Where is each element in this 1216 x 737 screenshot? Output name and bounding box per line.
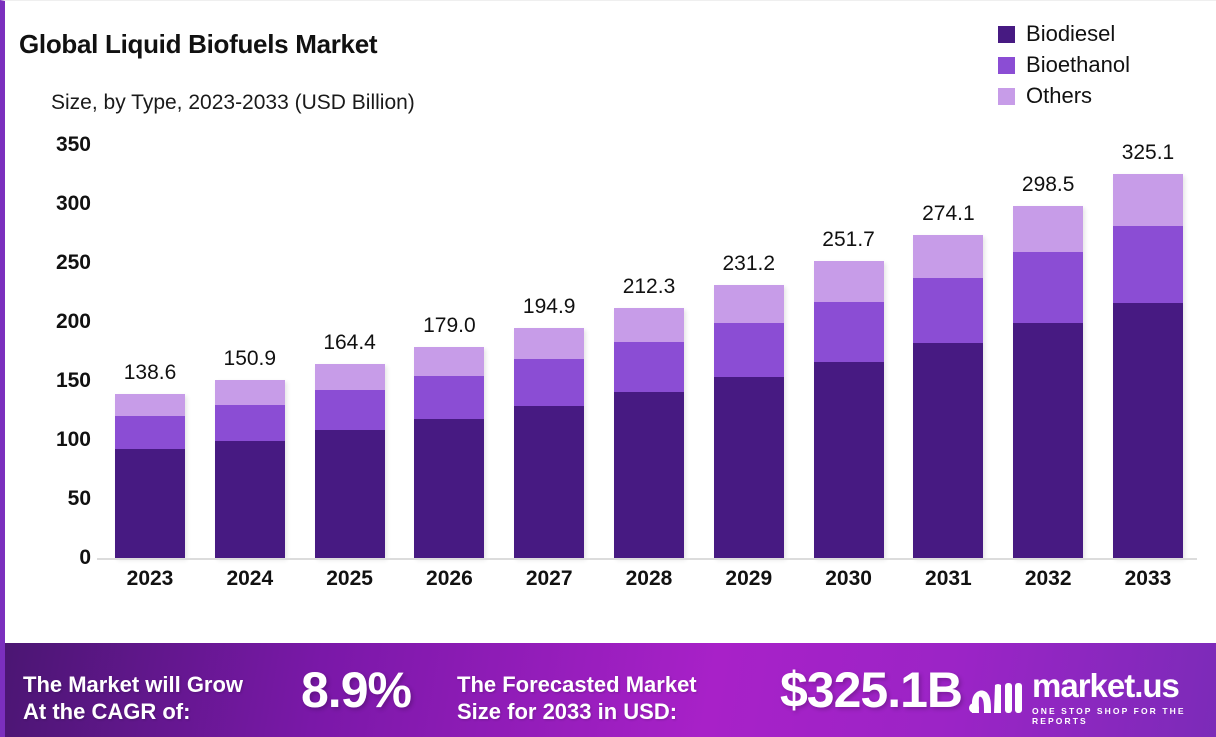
bar-column-2023[interactable]: 138.6: [101, 145, 199, 558]
bar-stack-2028: [614, 308, 684, 559]
y-axis-tick-50: 50: [31, 487, 91, 511]
bar-segment-biodiesel-2024: [215, 441, 285, 558]
x-axis-label-2032: 2032: [999, 567, 1097, 607]
bar-segment-bioethanol-2033: [1113, 226, 1183, 303]
market-us-logo[interactable]: market.us ONE STOP SHOP FOR THE REPORTS: [967, 669, 1216, 726]
bar-segment-bioethanol-2030: [814, 302, 884, 362]
bar-value-label-2026: 179.0: [423, 314, 476, 338]
bar-segment-others-2024: [215, 380, 285, 405]
cagr-value: 8.9%: [301, 665, 411, 715]
bar-segment-biodiesel-2031: [913, 343, 983, 558]
logo-wordmark: market.us: [1032, 669, 1216, 702]
bar-segment-bioethanol-2025: [315, 390, 385, 430]
forecast-caption: The Forecasted Market Size for 2033 in U…: [457, 672, 697, 726]
bar-stack-2023: [115, 394, 185, 558]
bar-segment-biodiesel-2030: [814, 362, 884, 558]
legend-label-bioethanol: Bioethanol: [1026, 54, 1130, 76]
legend-label-others: Others: [1026, 85, 1092, 107]
legend-item-bioethanol[interactable]: Bioethanol: [998, 54, 1130, 76]
market-us-logo-icon: [967, 681, 1023, 715]
bar-value-label-2025: 164.4: [323, 331, 376, 355]
x-axis-label-2028: 2028: [600, 567, 698, 607]
bar-segment-bioethanol-2028: [614, 342, 684, 392]
bar-column-2032[interactable]: 298.5: [999, 145, 1097, 558]
bar-stack-2033: [1113, 174, 1183, 558]
bar-value-label-2031: 274.1: [922, 202, 975, 226]
y-axis-tick-150: 150: [31, 369, 91, 393]
bar-value-label-2027: 194.9: [523, 295, 576, 319]
y-axis-tick-250: 250: [31, 251, 91, 275]
bar-segment-biodiesel-2023: [115, 449, 185, 558]
x-axis-labels: 2023202420252026202720282029203020312032…: [101, 567, 1197, 607]
bar-segment-biodiesel-2029: [714, 377, 784, 558]
market-us-logo-textblock: market.us ONE STOP SHOP FOR THE REPORTS: [1032, 669, 1216, 726]
page-subtitle: Size, by Type, 2023-2033 (USD Billion): [51, 91, 415, 115]
bar-stack-2025: [315, 364, 385, 558]
legend-label-biodiesel: Biodiesel: [1026, 23, 1115, 45]
cagr-caption: The Market will Grow At the CAGR of:: [23, 672, 243, 726]
bar-segment-others-2026: [414, 347, 484, 376]
bar-segment-others-2023: [115, 394, 185, 416]
y-axis-tick-300: 300: [31, 192, 91, 216]
bar-segment-bioethanol-2032: [1013, 252, 1083, 323]
forecast-caption-line1: The Forecasted Market: [457, 672, 697, 699]
x-axis-label-2024: 2024: [201, 567, 299, 607]
bar-column-2029[interactable]: 231.2: [700, 145, 798, 558]
bar-segment-bioethanol-2029: [714, 323, 784, 377]
bar-value-label-2028: 212.3: [623, 275, 676, 299]
bar-column-2027[interactable]: 194.9: [500, 145, 598, 558]
bar-segment-biodiesel-2027: [514, 406, 584, 558]
x-axis-label-2029: 2029: [700, 567, 798, 607]
bar-segment-biodiesel-2026: [414, 419, 484, 558]
y-axis-tick-100: 100: [31, 428, 91, 452]
bar-stack-2026: [414, 347, 484, 558]
footer-banner: The Market will Grow At the CAGR of: 8.9…: [5, 643, 1216, 737]
legend-item-biodiesel[interactable]: Biodiesel: [998, 23, 1130, 45]
bar-value-label-2023: 138.6: [124, 361, 177, 385]
bar-segment-others-2032: [1013, 206, 1083, 253]
cagr-caption-line2: At the CAGR of:: [23, 699, 243, 726]
bar-stack-2027: [514, 328, 584, 558]
y-axis-tick-350: 350: [31, 133, 91, 157]
bar-stack-2032: [1013, 206, 1083, 558]
bar-value-label-2030: 251.7: [822, 228, 875, 252]
bar-column-2028[interactable]: 212.3: [600, 145, 698, 558]
bar-segment-biodiesel-2033: [1113, 303, 1183, 558]
cagr-caption-line1: The Market will Grow: [23, 672, 243, 699]
y-axis-ticks: 350300250200150100500: [31, 145, 91, 558]
forecast-caption-line2: Size for 2033 in USD:: [457, 699, 697, 726]
bar-segment-bioethanol-2024: [215, 405, 285, 441]
x-axis-line: [97, 558, 1197, 560]
bar-segment-others-2027: [514, 328, 584, 359]
x-axis-label-2023: 2023: [101, 567, 199, 607]
bar-segment-bioethanol-2027: [514, 359, 584, 406]
bar-column-2024[interactable]: 150.9: [201, 145, 299, 558]
bar-column-2030[interactable]: 251.7: [800, 145, 898, 558]
bar-stack-2030: [814, 261, 884, 558]
bar-segment-biodiesel-2025: [315, 430, 385, 558]
bar-value-label-2024: 150.9: [224, 347, 277, 371]
infographic-frame: Global Liquid Biofuels Market Size, by T…: [0, 0, 1216, 737]
x-axis-label-2033: 2033: [1099, 567, 1197, 607]
x-axis-label-2030: 2030: [800, 567, 898, 607]
bar-stack-2029: [714, 285, 784, 558]
x-axis-label-2031: 2031: [899, 567, 997, 607]
y-axis-tick-0: 0: [31, 546, 91, 570]
bar-column-2025[interactable]: 164.4: [301, 145, 399, 558]
chart-legend: Biodiesel Bioethanol Others: [998, 23, 1130, 116]
bar-value-label-2029: 231.2: [723, 252, 776, 276]
bar-column-2033[interactable]: 325.1: [1099, 145, 1197, 558]
bar-segment-others-2025: [315, 364, 385, 390]
bar-segment-biodiesel-2028: [614, 392, 684, 558]
legend-swatch-others: [998, 88, 1015, 105]
bar-segment-others-2028: [614, 308, 684, 343]
bar-chart-plot-area: 138.6150.9164.4179.0194.9212.3231.2251.7…: [101, 145, 1197, 558]
legend-item-others[interactable]: Others: [998, 85, 1130, 107]
bar-column-2026[interactable]: 179.0: [400, 145, 498, 558]
bar-value-label-2033: 325.1: [1122, 141, 1175, 165]
logo-tagline: ONE STOP SHOP FOR THE REPORTS: [1032, 706, 1216, 726]
bar-column-2031[interactable]: 274.1: [899, 145, 997, 558]
bar-segment-others-2029: [714, 285, 784, 322]
bar-stack-2031: [913, 235, 983, 558]
bar-segment-bioethanol-2026: [414, 376, 484, 419]
x-axis-label-2025: 2025: [301, 567, 399, 607]
legend-swatch-biodiesel: [998, 26, 1015, 43]
bar-segment-others-2031: [913, 235, 983, 278]
x-axis-label-2026: 2026: [400, 567, 498, 607]
bar-segment-others-2033: [1113, 174, 1183, 225]
legend-swatch-bioethanol: [998, 57, 1015, 74]
bar-stack-2024: [215, 380, 285, 558]
y-axis-tick-200: 200: [31, 310, 91, 334]
bar-segment-bioethanol-2031: [913, 278, 983, 343]
page-title: Global Liquid Biofuels Market: [19, 29, 377, 60]
bar-segment-others-2030: [814, 261, 884, 302]
bar-value-label-2032: 298.5: [1022, 173, 1075, 197]
x-axis-label-2027: 2027: [500, 567, 598, 607]
bar-segment-biodiesel-2032: [1013, 323, 1083, 558]
forecast-value: $325.1B: [780, 665, 962, 715]
bar-segment-bioethanol-2023: [115, 416, 185, 449]
